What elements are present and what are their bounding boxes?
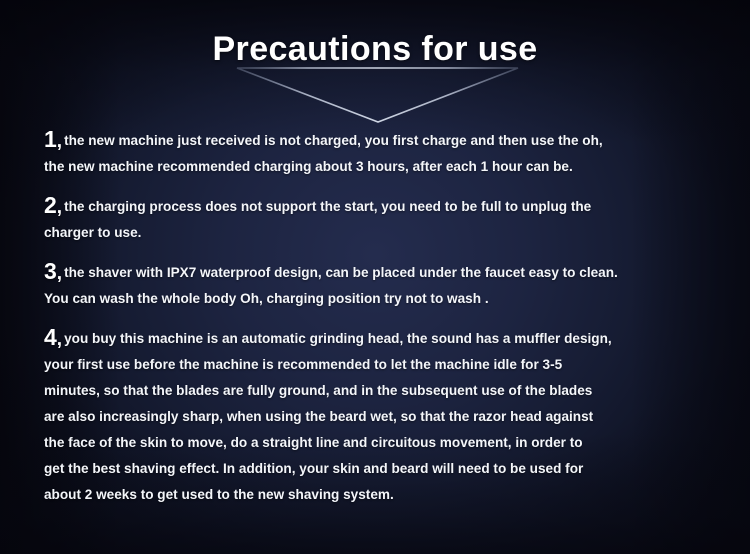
item-number: 1, — [44, 126, 62, 152]
item-text: the new machine just received is not cha… — [44, 133, 603, 174]
item-number: 2, — [44, 192, 62, 218]
item-text: the shaver with IPX7 waterproof design, … — [44, 265, 618, 306]
page-title: Precautions for use — [0, 30, 750, 69]
item-number: 3, — [44, 258, 62, 284]
precautions-list: 1,the new machine just received is not c… — [0, 128, 750, 508]
list-item: 4,you buy this machine is an automatic g… — [0, 326, 750, 509]
chevron-down-icon — [235, 66, 520, 126]
promo-banner: Precautions for use 1,the new machine ju… — [0, 0, 750, 554]
list-item: 3,the shaver with IPX7 waterproof design… — [0, 260, 750, 312]
item-text: you buy this machine is an automatic gri… — [44, 331, 612, 503]
list-item: 1,the new machine just received is not c… — [0, 128, 750, 180]
item-number: 4, — [44, 324, 62, 350]
list-item: 2,the charging process does not support … — [0, 194, 750, 246]
item-text: the charging process does not support th… — [44, 199, 591, 240]
